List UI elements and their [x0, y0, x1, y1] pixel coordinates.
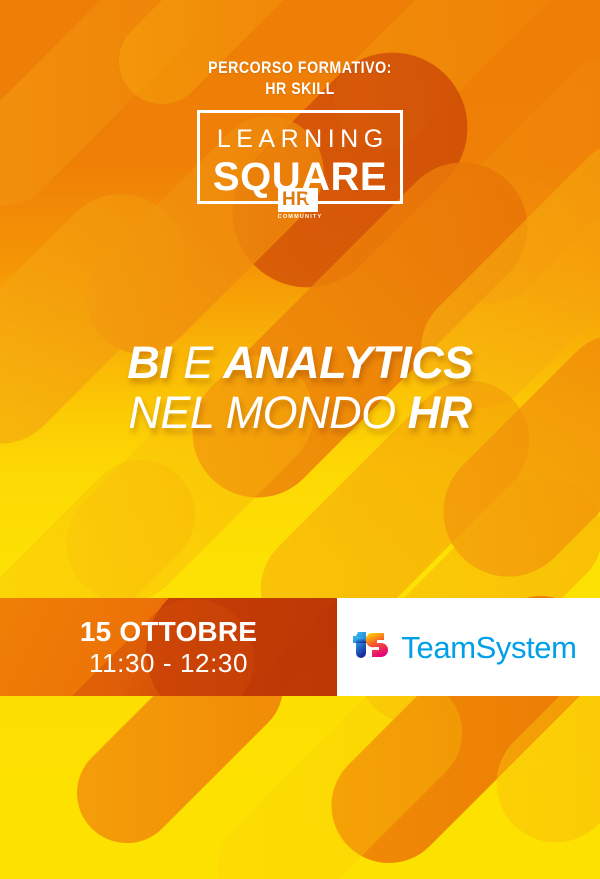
teamsystem-lockup: TeamSystem	[352, 627, 576, 667]
poster-root: PERCORSO FORMATIVO: HR SKILL LEARNING SQ…	[0, 0, 600, 879]
teamsystem-mark-icon	[352, 627, 390, 667]
headline-e	[171, 337, 183, 388]
decor-capsule	[0, 0, 219, 225]
hrc-community-logo: HR C COMMUNITY	[272, 188, 328, 226]
hrc-letter-c: C	[305, 188, 327, 212]
headline-analytics-sep	[213, 337, 223, 388]
headline-bi: BI	[127, 337, 171, 388]
eyebrow-line-2: HR SKILL	[42, 79, 558, 100]
event-datetime: 15 OTTOBRE 11:30 - 12:30	[0, 615, 337, 679]
banner-date-panel: 15 OTTOBRE 11:30 - 12:30	[0, 598, 337, 696]
teamsystem-wordmark: TeamSystem	[401, 632, 576, 663]
headline-line-2: NEL MONDO HR	[0, 390, 600, 436]
headline-analytics: ANALYTICS	[223, 337, 473, 388]
event-date: 15 OTTOBRE	[0, 615, 337, 648]
logo-word-learning: LEARNING	[200, 127, 400, 152]
headline-sep-2	[396, 387, 408, 438]
event-time: 11:30 - 12:30	[0, 648, 337, 679]
hrc-community-label: COMMUNITY	[272, 214, 328, 220]
partner-logo-panel: TeamSystem	[337, 598, 600, 696]
eyebrow-heading: PERCORSO FORMATIVO: HR SKILL	[42, 58, 558, 99]
event-banner: 15 OTTOBRE 11:30 - 12:30	[0, 598, 600, 696]
eyebrow-line-1: PERCORSO FORMATIVO:	[208, 59, 392, 77]
headline-conjunction: E	[183, 337, 213, 388]
headline-nel-mondo: NEL MONDO	[128, 387, 395, 438]
headline-hr: HR	[408, 387, 472, 438]
headline-line-1: BI E ANALYTICS	[0, 340, 600, 386]
headline: BI E ANALYTICS NEL MONDO HR	[0, 340, 600, 436]
